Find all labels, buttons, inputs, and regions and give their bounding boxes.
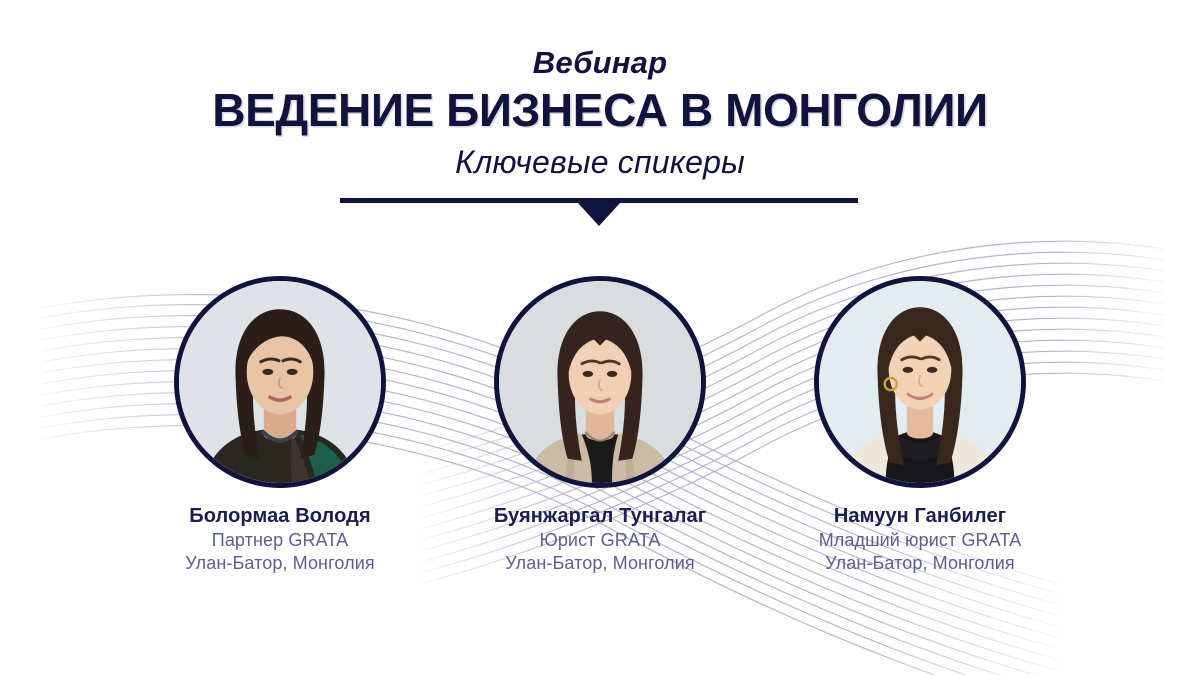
speaker-role: Юрист GRATA bbox=[494, 529, 706, 552]
avatar bbox=[814, 276, 1026, 488]
speaker-role: Партнер GRATA bbox=[185, 529, 374, 552]
portrait-photo bbox=[179, 281, 381, 483]
portrait-photo bbox=[499, 281, 701, 483]
speaker-card: Намуун Ганбилег Младший юрист GRATA Улан… bbox=[760, 276, 1080, 575]
speaker-location: Улан-Батор, Монголия bbox=[819, 552, 1022, 575]
speaker-location: Улан-Батор, Монголия bbox=[185, 552, 374, 575]
speakers-row: Болормаа Володя Партнер GRATA Улан-Батор… bbox=[0, 276, 1200, 575]
speaker-caption: Болормаа Володя Партнер GRATA Улан-Батор… bbox=[185, 504, 374, 575]
speaker-caption: Буянжаргал Тунгалаг Юрист GRATA Улан-Бат… bbox=[494, 504, 706, 575]
speaker-card: Буянжаргал Тунгалаг Юрист GRATA Улан-Бат… bbox=[440, 276, 760, 575]
subtitle-label: Ключевые спикеры bbox=[0, 145, 1200, 180]
speaker-location: Улан-Батор, Монголия bbox=[494, 552, 706, 575]
webinar-speakers-slide: Вебинар ВЕДЕНИЕ БИЗНЕСА В МОНГОЛИИ Ключе… bbox=[0, 0, 1200, 675]
eyebrow-label: Вебинар bbox=[0, 46, 1200, 80]
avatar bbox=[174, 276, 386, 488]
speaker-name: Болормаа Володя bbox=[185, 504, 374, 529]
section-divider bbox=[340, 198, 858, 230]
avatar bbox=[494, 276, 706, 488]
speaker-name: Буянжаргал Тунгалаг bbox=[494, 504, 706, 529]
slide-header: Вебинар ВЕДЕНИЕ БИЗНЕСА В МОНГОЛИИ Ключе… bbox=[0, 46, 1200, 180]
speaker-card: Болормаа Володя Партнер GRATA Улан-Батор… bbox=[120, 276, 440, 575]
speaker-caption: Намуун Ганбилег Младший юрист GRATA Улан… bbox=[819, 504, 1022, 575]
portrait-photo bbox=[819, 281, 1021, 483]
triangle-down-icon bbox=[578, 203, 620, 226]
speaker-role: Младший юрист GRATA bbox=[819, 529, 1022, 552]
page-title: ВЕДЕНИЕ БИЗНЕСА В МОНГОЛИИ bbox=[0, 86, 1200, 136]
speaker-name: Намуун Ганбилег bbox=[819, 504, 1022, 529]
